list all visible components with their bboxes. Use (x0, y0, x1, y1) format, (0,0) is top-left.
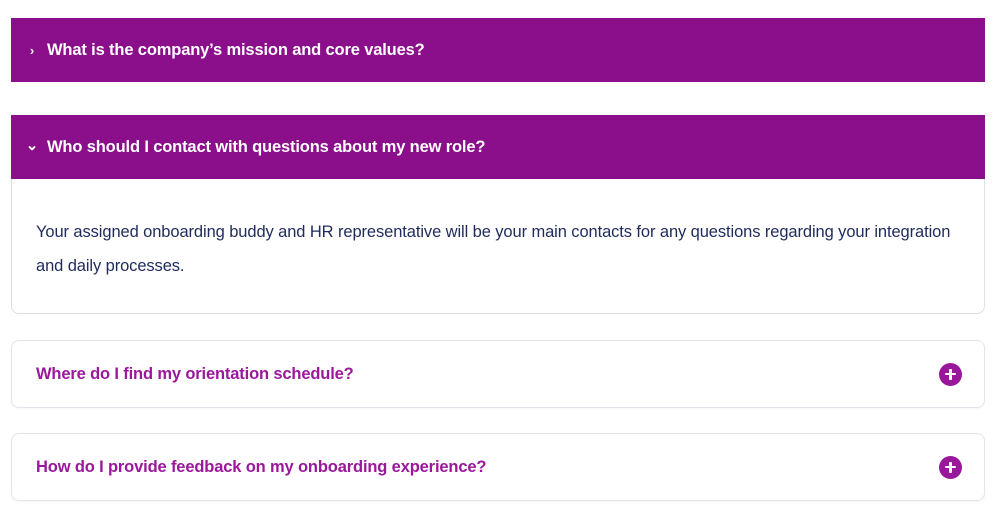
faq-question-label: What is the company’s mission and core v… (47, 42, 425, 59)
faq-question-mission[interactable]: › What is the company’s mission and core… (11, 18, 985, 82)
chevron-right-icon: › (24, 44, 40, 57)
faq-question-label: How do I provide feedback on my onboardi… (36, 459, 486, 476)
faq-answer-text: Your assigned onboarding buddy and HR re… (36, 215, 956, 283)
faq-question-label: Who should I contact with questions abou… (47, 139, 485, 156)
faq-accordion: › What is the company’s mission and core… (0, 0, 999, 505)
spacer (11, 314, 985, 340)
faq-question-contact[interactable]: ⌄ Who should I contact with questions ab… (11, 115, 985, 179)
faq-question-label: Where do I find my orientation schedule? (36, 366, 354, 383)
faq-item-mission: › What is the company’s mission and core… (11, 18, 985, 82)
faq-question-feedback[interactable]: How do I provide feedback on my onboardi… (11, 433, 985, 501)
faq-question-orientation[interactable]: Where do I find my orientation schedule? (11, 340, 985, 408)
faq-item-feedback: How do I provide feedback on my onboardi… (11, 433, 985, 501)
chevron-down-icon: ⌄ (24, 138, 40, 153)
spacer (11, 82, 985, 115)
faq-item-orientation: Where do I find my orientation schedule? (11, 340, 985, 408)
faq-item-contact: ⌄ Who should I contact with questions ab… (11, 115, 985, 314)
faq-answer-panel: Your assigned onboarding buddy and HR re… (11, 179, 985, 314)
spacer (11, 408, 985, 433)
plus-icon[interactable] (939, 456, 962, 479)
plus-icon[interactable] (939, 363, 962, 386)
